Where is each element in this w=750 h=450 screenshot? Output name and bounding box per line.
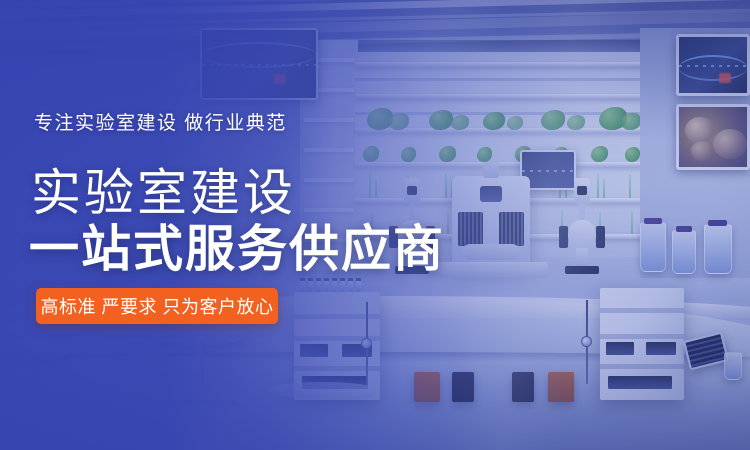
hero-banner: 专注实验室建设 做行业典范 实验室建设 一站式服务供应商 高标准 严要求 只为客…: [0, 0, 750, 450]
banner-headline-primary: 实验室建设: [31, 168, 296, 218]
cta-button[interactable]: 高标准 严要求 只为客户放心: [36, 288, 278, 324]
banner-tagline: 专注实验室建设 做行业典范: [34, 108, 287, 135]
banner-content: 专注实验室建设 做行业典范 实验室建设 一站式服务供应商 高标准 严要求 只为客…: [0, 0, 750, 450]
banner-headline-secondary: 一站式服务供应商: [29, 224, 445, 274]
